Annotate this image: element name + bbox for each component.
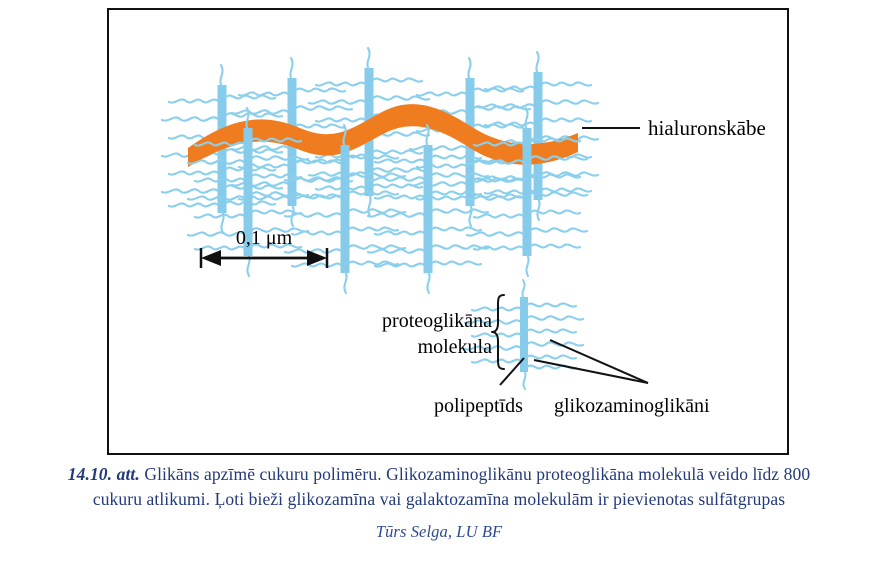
caption-line-1-text: Glikāns apzīmē cukuru polimēru. Glikozam… bbox=[140, 464, 810, 484]
figure-caption: 14.10. att. Glikāns apzīmē cukuru polimē… bbox=[0, 462, 878, 544]
figure-root: hialuronskābe 0,1 μm proteoglikāna molek… bbox=[0, 0, 878, 572]
caption-figure-number: 14.10. att. bbox=[68, 464, 140, 484]
caption-line-2: cukuru atlikumi. Ļoti bieži glikozamīna … bbox=[0, 487, 878, 512]
caption-credit: Tūrs Selga, LU BF bbox=[0, 519, 878, 544]
figure-frame bbox=[107, 8, 789, 455]
caption-line-1: 14.10. att. Glikāns apzīmē cukuru polimē… bbox=[0, 462, 878, 487]
